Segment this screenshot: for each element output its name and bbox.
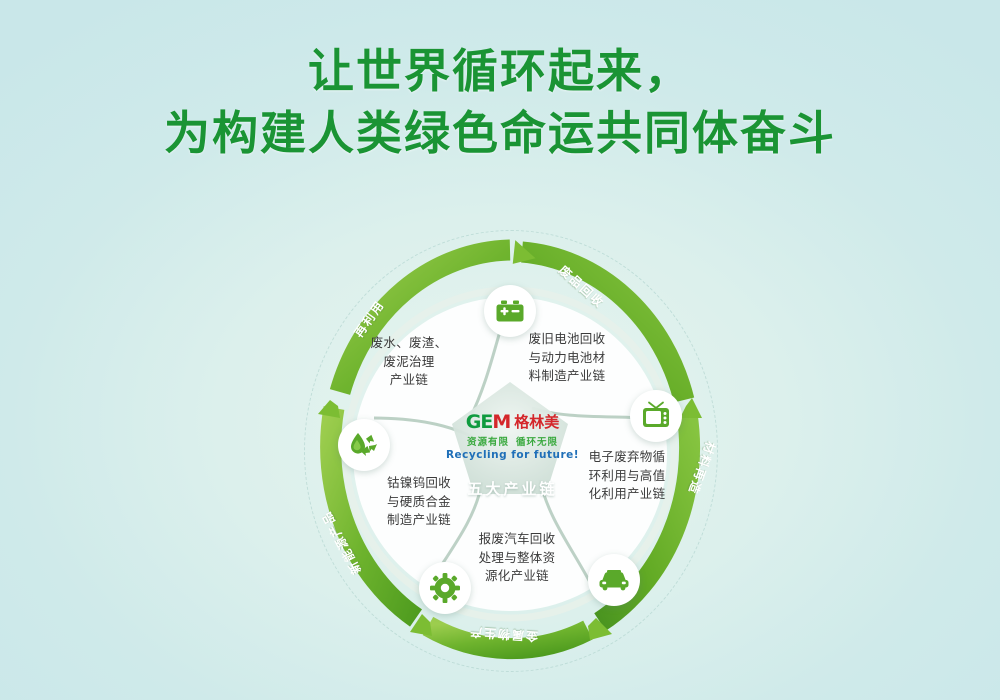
title-line-2: 为构建人类绿色命运共同体奋斗 <box>0 106 1000 160</box>
logo-tagline-en: Recycling for future! <box>440 449 585 461</box>
logo-row: GEM 格林美 <box>440 412 585 432</box>
poster-canvas: 让世界循环起来， 为构建人类绿色命运共同体奋斗 <box>0 0 1000 700</box>
center-caption: 五大产业链 <box>440 478 585 499</box>
title-line-1: 让世界循环起来， <box>0 44 1000 98</box>
logo-chinese-name: 格林美 <box>514 415 559 430</box>
recycling-cycle-diagram: 废水、废渣、废泥治理产业链 废旧电池回收与动力电池材料制造产业链 电子废弃物循环… <box>300 222 720 682</box>
icon-bubble-battery[interactable] <box>484 285 536 337</box>
water-recycle-icon <box>348 430 380 460</box>
petal-label-endoflife-vehicle: 报废汽车回收处理与整体资源化产业链 <box>462 530 572 586</box>
logo-slogan-left: 资源有限 <box>467 437 509 448</box>
icon-bubble-car[interactable] <box>588 554 640 606</box>
petal-label-ewaste: 电子废弃物循环利用与高值化利用产业链 <box>572 448 682 504</box>
icon-bubble-gear[interactable] <box>419 562 471 614</box>
logo-slogan-right: 循环无限 <box>516 437 558 448</box>
icon-bubble-tv[interactable] <box>630 390 682 442</box>
gem-logo: GEM 格林美 资源有限循环无限 Recycling for future! <box>440 412 585 461</box>
logo-slogan: 资源有限循环无限 <box>440 434 585 448</box>
icon-bubble-water-recycle[interactable] <box>338 419 390 471</box>
petal-label-battery: 废旧电池回收与动力电池材料制造产业链 <box>512 330 622 386</box>
gear-icon <box>430 573 460 603</box>
logo-wordmark: GEM <box>466 413 511 432</box>
battery-icon <box>495 299 525 323</box>
car-icon <box>598 569 630 591</box>
petal-label-wastewater: 废水、废渣、废泥治理产业链 <box>354 334 464 390</box>
tv-icon <box>641 401 671 431</box>
page-title: 让世界循环起来， 为构建人类绿色命运共同体奋斗 <box>0 44 1000 161</box>
